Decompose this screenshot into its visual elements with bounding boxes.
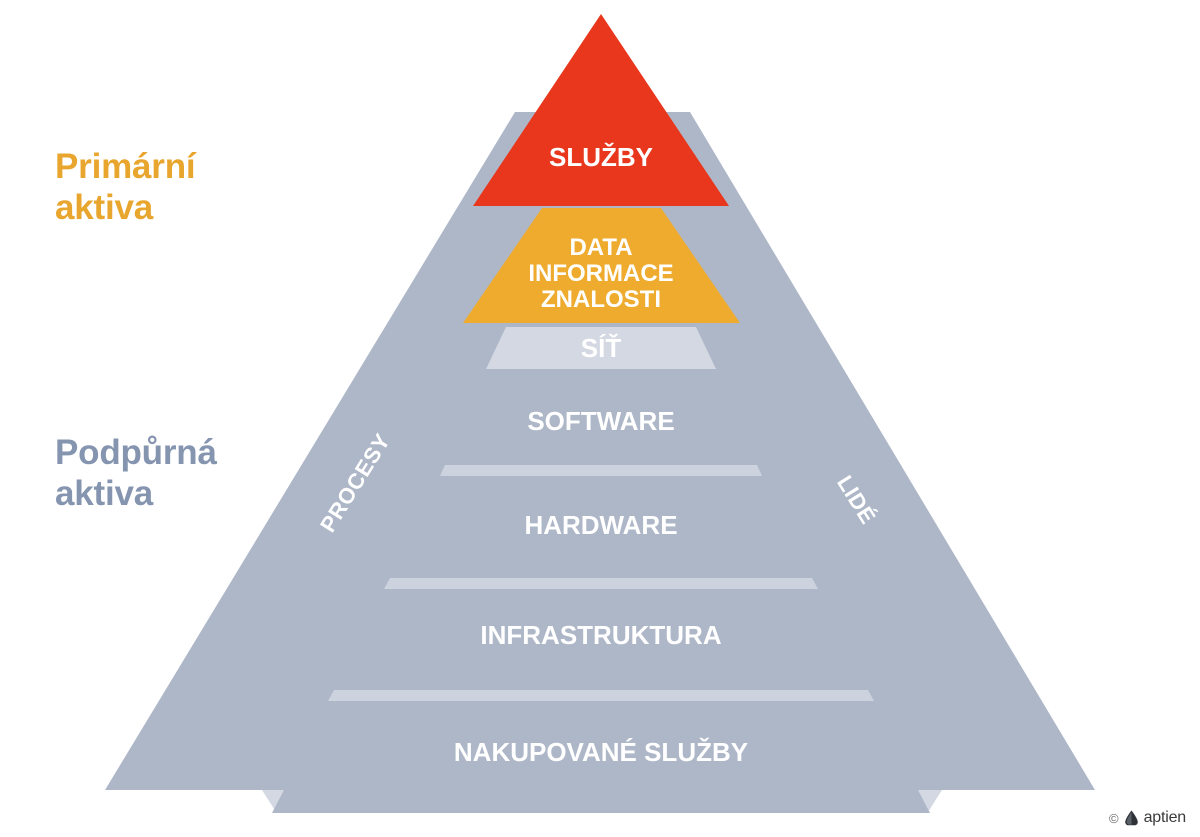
tier-nakupovane-sluzby-label: NAKUPOVANÉ SLUŽBY [454, 737, 748, 767]
tier-hardware-label: HARDWARE [524, 510, 677, 540]
tier-dataknowledge-line-2: INFORMACE [528, 260, 673, 287]
tier-sluzby-label: SLUŽBY [549, 142, 653, 172]
aptien-logo-icon [1124, 810, 1139, 826]
tier-sluzby[interactable]: SLUŽBY [473, 14, 729, 206]
tier-hardware[interactable]: HARDWARE [384, 481, 818, 589]
group-label-supporting-assets: Podpůrná aktiva [55, 432, 217, 515]
brand-footer: © aptien [1109, 809, 1186, 827]
tier-sit[interactable]: SÍŤ [486, 327, 716, 369]
tier-software-divider [440, 465, 762, 476]
tier-hardware-divider [384, 578, 818, 589]
tier-sit-label: SÍŤ [581, 333, 622, 363]
tier-infrastruktura-label: INFRASTRUKTURA [480, 620, 721, 650]
tier-software-label: SOFTWARE [527, 406, 674, 436]
group-label-primary-assets: Primární aktiva [55, 146, 195, 229]
diagram-canvas: SÍŤ SOFTWARE HARDWARE INFRASTRUKTURA [0, 0, 1200, 837]
tier-dataknowledge-line-1: DATA [569, 234, 632, 261]
tier-nakupovane-sluzby[interactable]: NAKUPOVANÉ SLUŽBY [272, 706, 930, 813]
brand-name: aptien [1144, 809, 1186, 827]
copyright-symbol: © [1109, 811, 1119, 826]
tier-dataknowledge-line-3: ZNALOSTI [541, 286, 661, 313]
tier-software[interactable]: SOFTWARE [440, 374, 762, 476]
tier-infrastruktura-divider [328, 690, 874, 701]
pyramid-diagram: SÍŤ SOFTWARE HARDWARE INFRASTRUKTURA [0, 0, 1200, 837]
base-gap [267, 813, 935, 822]
tier-infrastruktura[interactable]: INFRASTRUKTURA [328, 594, 874, 701]
tier-sluzby-shape [473, 14, 729, 206]
